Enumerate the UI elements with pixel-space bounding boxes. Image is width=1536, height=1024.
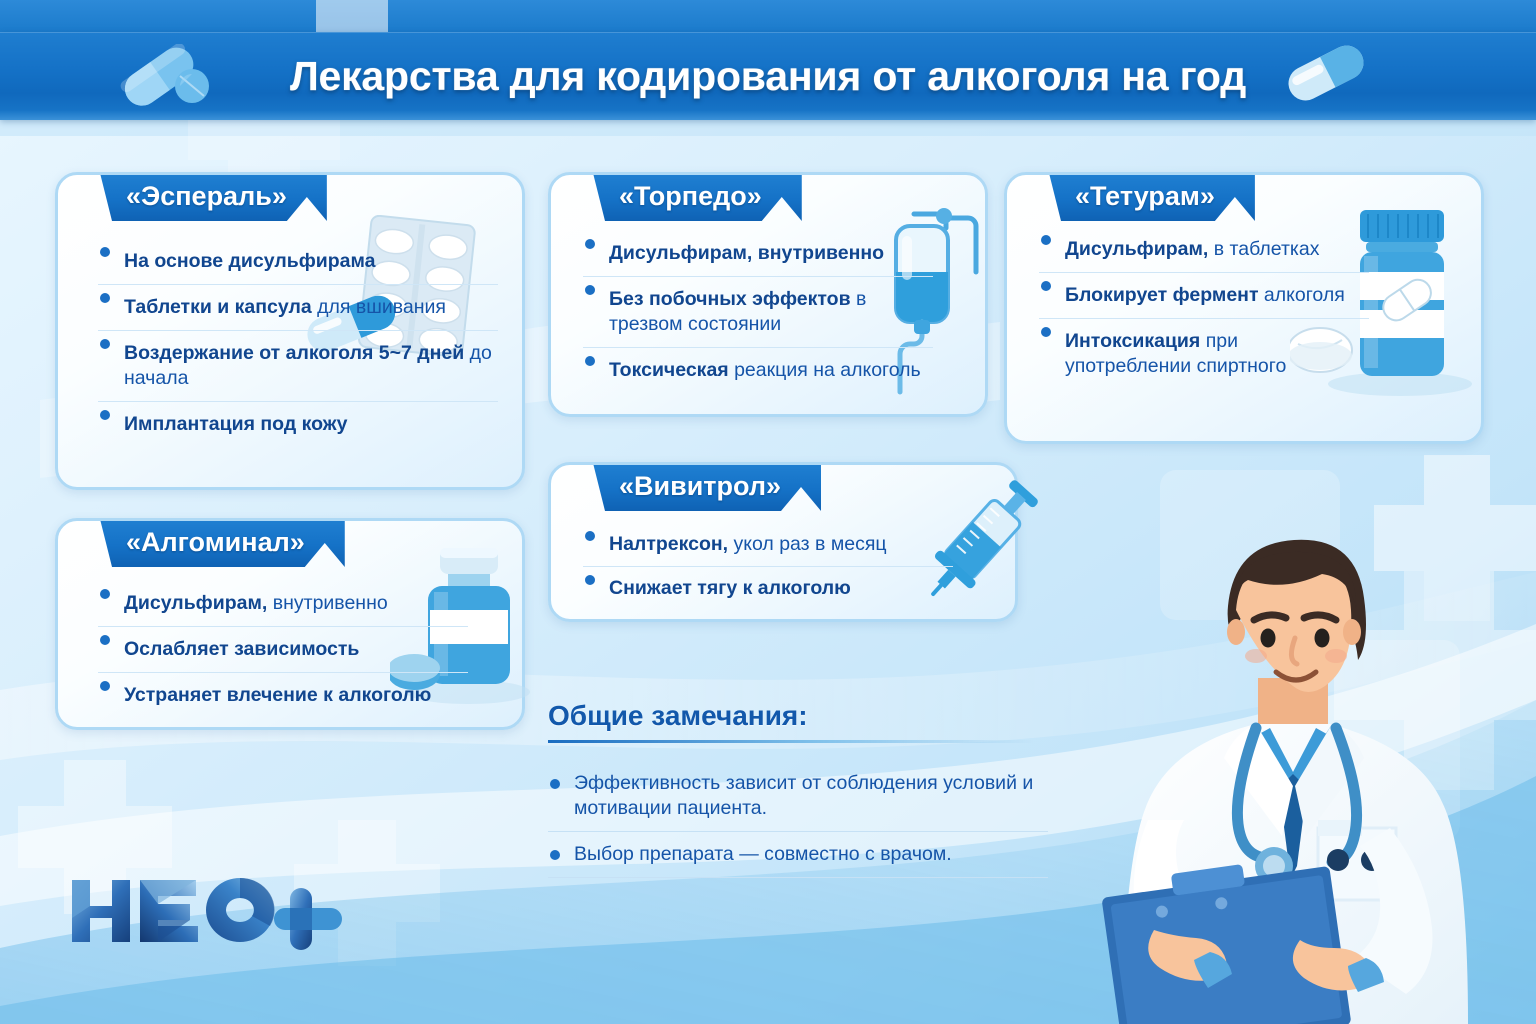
list-item: Блокирует фермент алкоголя [1039,273,1369,319]
card-vivitrol: «Вивитрол» Налтрексон, укол раз в месяц … [548,462,1018,622]
bullet-list-torpedo: Дисульфирам, внутривенно Без побочных эф… [583,231,933,393]
list-item: Дисульфирам, внутривенно [583,231,933,277]
card-esperal: «Эсперaль» На основе дисульфирама Таблет… [55,172,525,490]
card-title-teturam: «Тетурам» [1049,173,1255,221]
bullet-dot-icon [100,339,110,349]
bullet-list-algominal: Дисульфирам, внутривенно Ослабляет завис… [98,581,468,718]
list-item: Эффективность зависит от соблюдения усло… [548,761,1048,832]
list-item: Налтрексон, укол раз в месяц [583,523,953,567]
bullet-dot-icon [100,681,110,691]
list-item: Дисульфирам, внутривенно [98,581,468,627]
bullet-dot-icon [585,239,595,249]
bullet-dot-icon [1041,281,1051,291]
list-item: Устраняет влечение к алкоголю [98,673,468,718]
list-item: Таблетки и капсула для вшивания [98,285,498,331]
bullet-dot-icon [550,850,560,860]
card-title-esperal: «Эсперaль» [100,173,327,221]
brand-logo [68,872,348,963]
card-teturam: «Тетурам» Дисульфирам, в таблетках Блоки… [1004,172,1484,444]
bullet-dot-icon [100,410,110,420]
bullet-dot-icon [585,356,595,366]
list-item: Имплантация под кожу [98,402,498,447]
bullet-dot-icon [100,589,110,599]
list-item: Без побочных эффектов в трезвом состояни… [583,277,933,348]
list-item: Интоксикация при употреблении спиртного [1039,319,1369,389]
bullet-dot-icon [100,635,110,645]
capsule-pill-icon [1282,44,1370,107]
bullet-dot-icon [100,293,110,303]
bullet-dot-icon [585,575,595,585]
notes-divider [548,740,1033,743]
card-title-algominal: «Алгоминал» [100,519,345,567]
list-item: Ослабляет зависимость [98,627,468,673]
card-torpedo: «Торпедо» Дисульфирам, внутривенно Без п… [548,172,988,417]
bullet-dot-icon [1041,235,1051,245]
list-item: Воздержание от алкоголя 5~7 дней до нача… [98,331,498,402]
bullet-dot-icon [1041,327,1051,337]
list-item: Выбор препарата — совместно с врачом. [548,832,1048,878]
card-title-vivitrol: «Вивитрол» [593,463,821,511]
doctor-with-clipboard-illustration [1060,528,1530,1024]
general-notes-section: Общие замечания: Эффективность зависит о… [548,700,1048,878]
bullet-list-esperal: На основе дисульфирама Таблетки и капсул… [98,239,498,447]
bullet-dot-icon [100,247,110,257]
capsule-pill-icon [118,44,213,111]
bullet-dot-icon [585,285,595,295]
bullet-list-teturam: Дисульфирам, в таблетках Блокирует ферме… [1039,227,1369,389]
card-algominal: «Алгоминал» Дисульфирам, внутривенно Осл… [55,518,525,730]
bullet-dot-icon [550,779,560,789]
list-item: Дисульфирам, в таблетках [1039,227,1369,273]
notes-title: Общие замечания: [548,700,1048,740]
list-item: Токсическая реакция на алкоголь [583,348,933,393]
notes-list: Эффективность зависит от соблюдения усло… [548,761,1048,878]
infographic-poster: Лекарства для кодирования от алкоголя на… [0,0,1536,1024]
card-title-torpedo: «Торпедо» [593,173,802,221]
list-item: Снижает тягу к алкоголю [583,567,953,610]
bullet-list-vivitrol: Налтрексон, укол раз в месяц Снижает тяг… [583,523,953,610]
bullet-dot-icon [585,531,595,541]
list-item: На основе дисульфирама [98,239,498,285]
